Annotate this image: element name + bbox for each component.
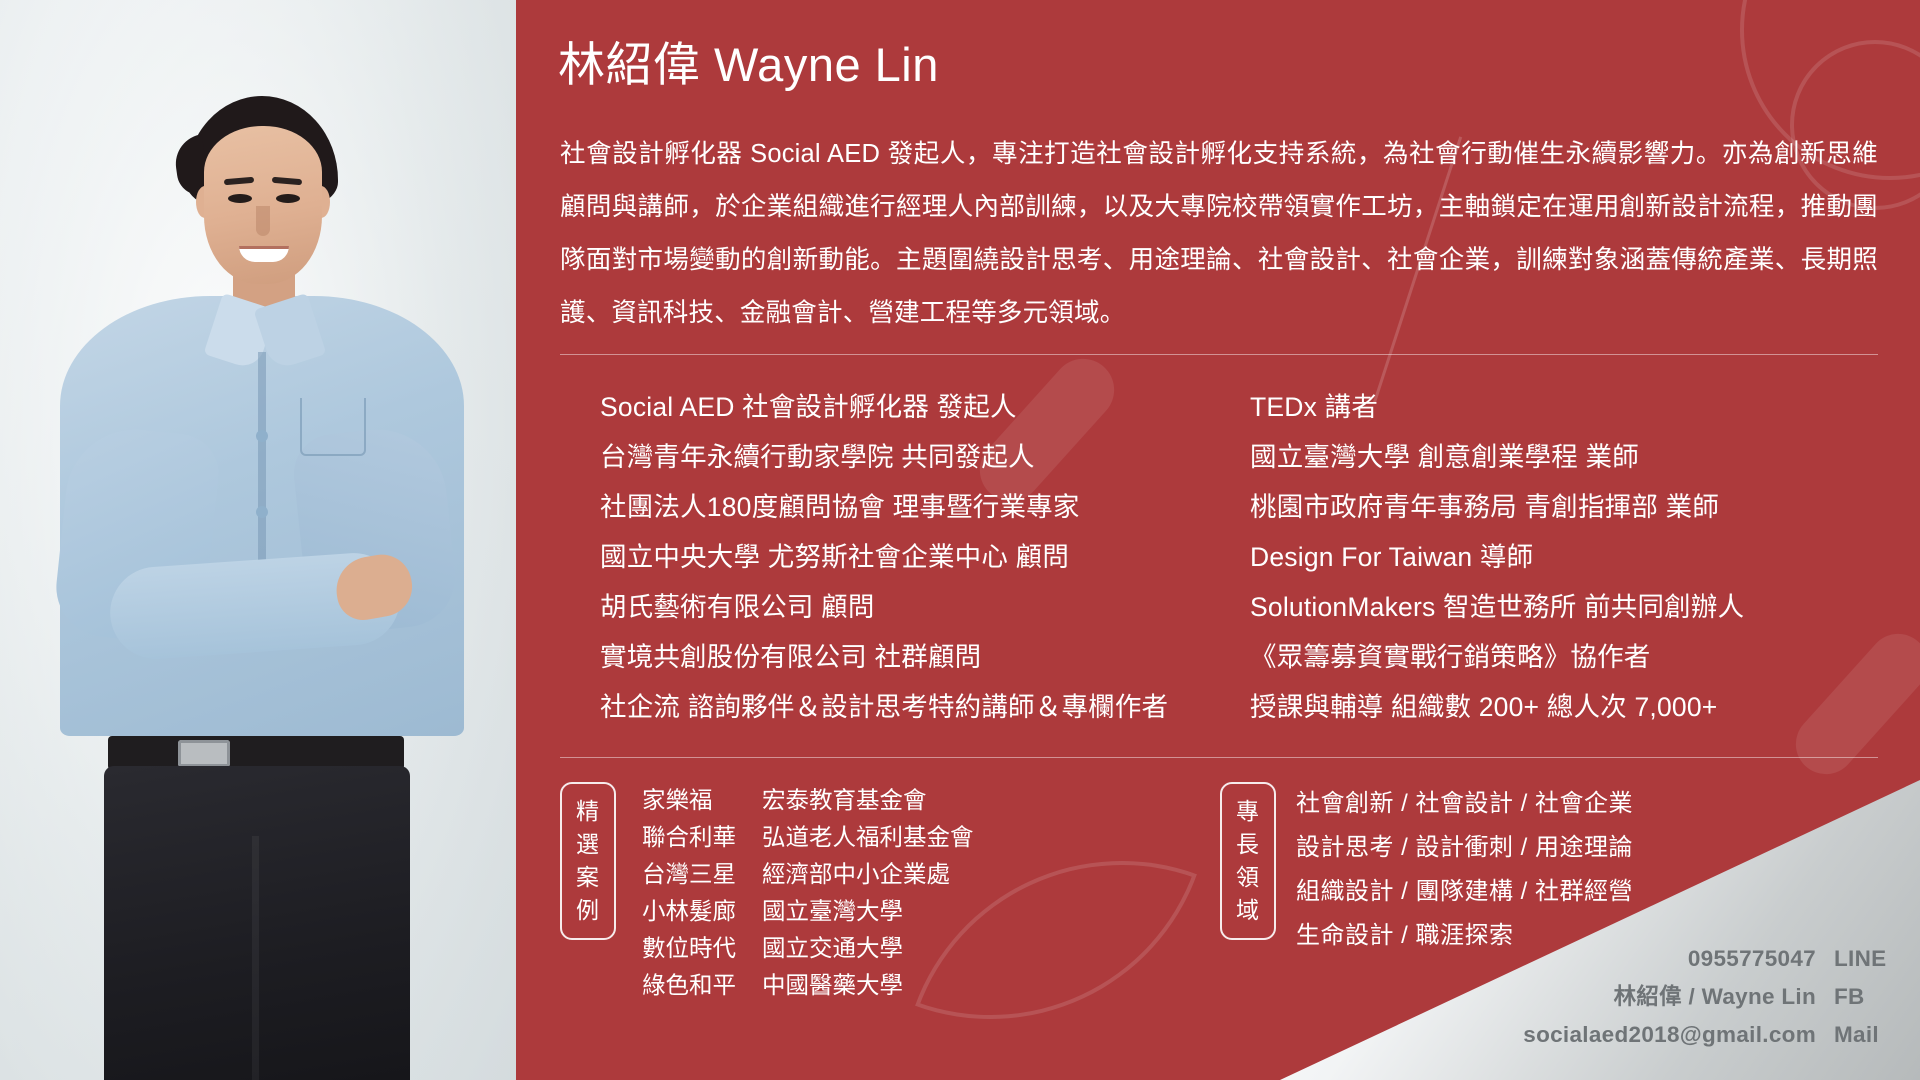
credential-item: 胡氏藝術有限公司 顧問 <box>600 582 1250 632</box>
trousers-shape <box>104 766 410 1080</box>
contact-value: socialaed2018@gmail.com <box>1523 1022 1816 1047</box>
label-char: 例 <box>576 894 600 927</box>
case-item: 國立交通大學 <box>762 930 1022 967</box>
case-item: 經濟部中小企業處 <box>762 856 1022 893</box>
credential-item: 國立中央大學 尤努斯社會企業中心 顧問 <box>600 532 1250 582</box>
contact-channel-tag: LINE <box>1834 940 1890 978</box>
label-char: 案 <box>576 861 600 894</box>
case-item: 弘道老人福利基金會 <box>762 819 1022 856</box>
page-title: 林紹偉 Wayne Lin <box>558 26 939 95</box>
case-column-2: 宏泰教育基金會 弘道老人福利基金會 經濟部中小企業處 國立臺灣大學 國立交通大學… <box>762 782 1022 1004</box>
contact-value: 林紹偉 / Wayne Lin <box>1614 984 1816 1009</box>
credential-item: 實境共創股份有限公司 社群顧問 <box>600 632 1250 682</box>
info-panel: 林紹偉 Wayne Lin 社會設計孵化器 Social AED 發起人，專注打… <box>516 0 1920 1080</box>
credentials-column-left: Social AED 社會設計孵化器 發起人 台灣青年永續行動家學院 共同發起人… <box>560 382 1250 732</box>
case-item: 聯合利華 <box>642 819 762 856</box>
case-item: 綠色和平 <box>642 967 762 1004</box>
label-char: 領 <box>1236 861 1260 894</box>
selected-cases-group: 精 選 案 例 家樂福 聯合利華 台灣三星 小林髮廊 數位時代 綠色和平 <box>560 782 1220 1004</box>
contact-value: 0955775047 <box>1688 946 1816 971</box>
portrait-panel <box>0 0 516 1080</box>
credential-item: 社企流 諮詢夥伴＆設計思考特約講師＆專欄作者 <box>600 682 1250 732</box>
shirt-pocket-shape <box>300 398 366 456</box>
credentials-section: Social AED 社會設計孵化器 發起人 台灣青年永續行動家學院 共同發起人… <box>560 382 1878 732</box>
case-item: 台灣三星 <box>642 856 762 893</box>
case-item: 數位時代 <box>642 930 762 967</box>
contact-channel-tag: FB <box>1834 978 1890 1016</box>
selected-cases-label: 精 選 案 例 <box>560 782 616 940</box>
credentials-column-right: TEDx 講者 國立臺灣大學 創意創業學程 業師 桃園市政府青年事務局 青創指揮… <box>1250 382 1878 732</box>
credential-item: TEDx 講者 <box>1250 382 1878 432</box>
label-char: 域 <box>1236 894 1260 927</box>
label-char: 選 <box>576 828 600 861</box>
skill-item: 組織設計 / 團隊建構 / 社群經營 <box>1296 870 1633 914</box>
belt-buckle-shape <box>178 740 230 767</box>
credential-item: 社團法人180度顧問協會 理事暨行業專家 <box>600 482 1250 532</box>
contact-channel-tag: Mail <box>1834 1016 1890 1054</box>
contact-row-mail[interactable]: socialaed2018@gmail.comMail <box>1523 1016 1890 1054</box>
belt-shape <box>108 736 404 770</box>
shirt-button-shape <box>256 506 268 518</box>
case-item: 家樂福 <box>642 782 762 819</box>
eye-left-shape <box>228 194 252 203</box>
credential-item: 《眾籌募資實戰行銷策略》協作者 <box>1250 632 1878 682</box>
label-char: 專 <box>1236 795 1260 828</box>
case-column-1: 家樂福 聯合利華 台灣三星 小林髮廊 數位時代 綠色和平 <box>642 782 762 1004</box>
eye-right-shape <box>276 194 300 203</box>
label-char: 精 <box>576 795 600 828</box>
case-item: 宏泰教育基金會 <box>762 782 1022 819</box>
credential-item: 國立臺灣大學 創意創業學程 業師 <box>1250 432 1878 482</box>
divider-top <box>560 354 1878 355</box>
nose-shape <box>256 206 270 236</box>
portrait-photo <box>0 0 516 1080</box>
case-item: 小林髮廊 <box>642 893 762 930</box>
skill-item: 設計思考 / 設計衝刺 / 用途理論 <box>1296 826 1633 870</box>
contact-row-line[interactable]: 0955775047LINE <box>1523 940 1890 978</box>
skill-item: 社會創新 / 社會設計 / 社會企業 <box>1296 782 1633 826</box>
skills-label: 專 長 領 域 <box>1220 782 1276 940</box>
divider-bottom <box>560 757 1878 758</box>
shirt-button-shape <box>256 430 268 442</box>
case-item: 國立臺灣大學 <box>762 893 1022 930</box>
credential-item: 台灣青年永續行動家學院 共同發起人 <box>600 432 1250 482</box>
credential-item: Social AED 社會設計孵化器 發起人 <box>600 382 1250 432</box>
contact-row-facebook[interactable]: 林紹偉 / Wayne LinFB <box>1523 978 1890 1016</box>
credential-item: 授課與輔導 組織數 200+ 總人次 7,000+ <box>1250 682 1878 732</box>
credential-item: 桃園市政府青年事務局 青創指揮部 業師 <box>1250 482 1878 532</box>
contact-block: 0955775047LINE 林紹偉 / Wayne LinFB sociala… <box>1523 940 1890 1054</box>
credential-item: SolutionMakers 智造世務所 前共同創辦人 <box>1250 582 1878 632</box>
profile-card: 林紹偉 Wayne Lin 社會設計孵化器 Social AED 發起人，專注打… <box>0 0 1920 1080</box>
credential-item: Design For Taiwan 導師 <box>1250 532 1878 582</box>
case-columns: 家樂福 聯合利華 台灣三星 小林髮廊 數位時代 綠色和平 宏泰教育基金會 弘道老… <box>642 782 1022 1004</box>
bio-paragraph: 社會設計孵化器 Social AED 發起人，專注打造社會設計孵化支持系統，為社… <box>560 128 1878 340</box>
label-char: 長 <box>1236 828 1260 861</box>
case-item: 中國醫藥大學 <box>762 967 1022 1004</box>
